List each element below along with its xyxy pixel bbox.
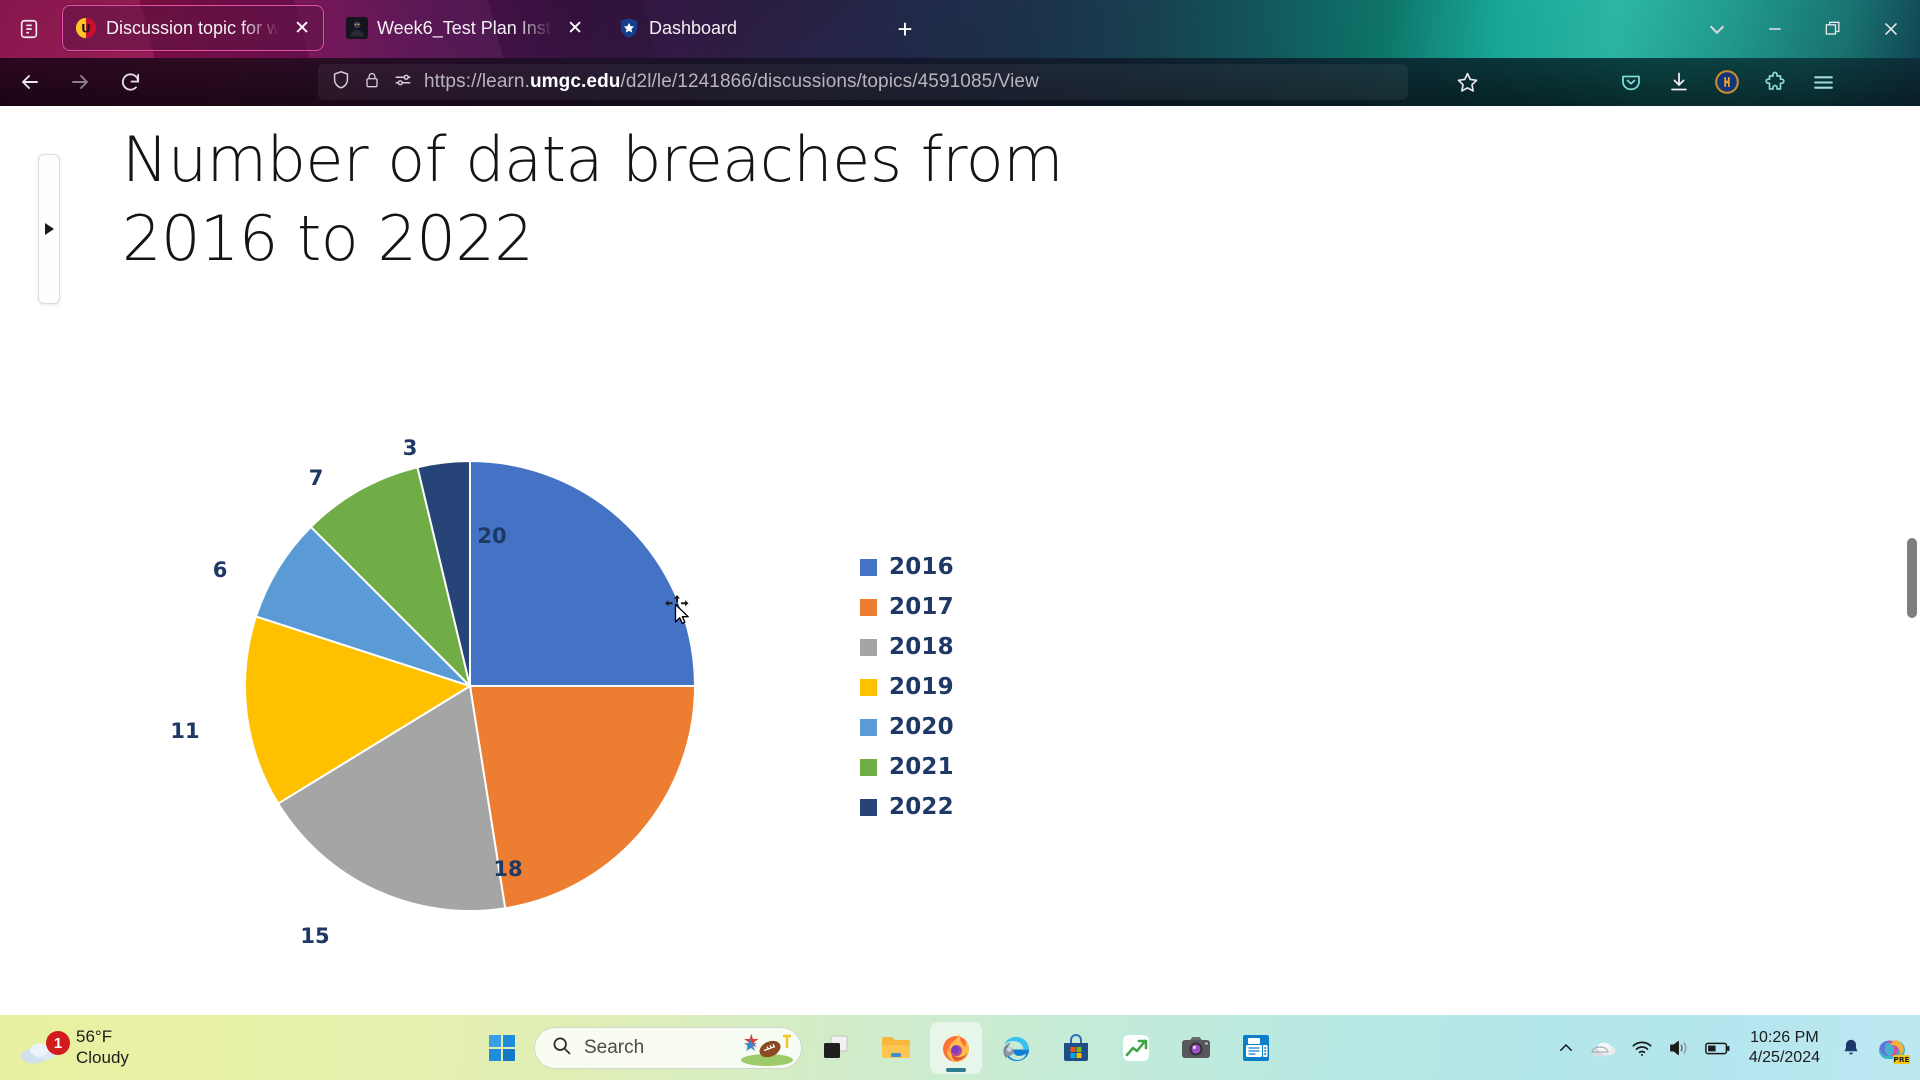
avatar-favicon [346, 17, 368, 39]
clock-date: 4/25/2024 [1749, 1048, 1820, 1068]
taskbar-clock[interactable]: 10:26 PM 4/25/2024 [1739, 1028, 1830, 1068]
chart-up-icon[interactable] [1110, 1022, 1162, 1074]
tab-strip: U Discussion topic for week 7: Dat ✕ Wee… [0, 0, 1920, 58]
site-permissions-icon[interactable] [392, 69, 414, 96]
store-icon[interactable] [1050, 1022, 1102, 1074]
url-text[interactable]: https://learn.umgc.edu/d2l/le/1241866/di… [424, 71, 1039, 93]
legend-item-2021[interactable]: 2021 [860, 756, 954, 778]
windows-taskbar: 1 56°F Cloudy Search [0, 1015, 1920, 1080]
slice-label-2020: 6 [213, 558, 228, 582]
bell-icon[interactable] [1834, 1031, 1868, 1065]
browser-tab-dashboard[interactable]: Dashboard [606, 5, 868, 51]
firefox-icon[interactable] [930, 1022, 982, 1074]
tracking-protection-shield-icon[interactable] [330, 69, 352, 96]
pie-slices [190, 406, 750, 966]
window-controls [1688, 0, 1920, 58]
maximize-restore-button[interactable] [1804, 0, 1862, 58]
vertical-scrollbar[interactable] [1904, 106, 1920, 1015]
slice-label-2018: 15 [300, 924, 329, 948]
battery-icon[interactable] [1701, 1031, 1735, 1065]
list-all-tabs-button[interactable] [1688, 0, 1746, 58]
legend-label: 2020 [889, 714, 954, 740]
umgc-favicon: U [75, 17, 97, 39]
weather-condition: Cloudy [76, 1048, 129, 1069]
minimize-button[interactable] [1746, 0, 1804, 58]
slice-label-2017: 18 [493, 857, 522, 881]
legend-swatch-2019 [860, 679, 877, 696]
page-title: Number of data breaches from 2016 to 202… [122, 120, 1222, 279]
search-placeholder: Search [584, 1037, 644, 1059]
tab-title: Week6_Test Plan Instructions: Th [377, 18, 553, 39]
weather-temperature: 56°F [76, 1027, 129, 1048]
printer-scan-icon[interactable] [1230, 1022, 1282, 1074]
new-tab-button[interactable]: + [888, 12, 922, 46]
close-window-button[interactable] [1862, 0, 1920, 58]
speaker-icon[interactable] [1663, 1031, 1697, 1065]
scrollbar-thumb[interactable] [1907, 538, 1917, 618]
pie-chart: 20 18 15 11 6 7 3 2016 2017 2 [150, 376, 1150, 956]
search-icon [551, 1035, 572, 1061]
legend-item-2018[interactable]: 2018 [860, 636, 954, 658]
url-address-bar[interactable]: https://learn.umgc.edu/d2l/le/1241866/di… [318, 64, 1408, 100]
chevron-up-icon[interactable] [1549, 1031, 1583, 1065]
star-icon[interactable] [1448, 64, 1486, 100]
legend-label: 2018 [889, 634, 954, 660]
svg-text:U: U [81, 22, 91, 36]
navigation-toolbar: https://learn.umgc.edu/d2l/le/1241866/di… [0, 58, 1920, 106]
legend-item-2017[interactable]: 2017 [860, 596, 954, 618]
legend-swatch-2020 [860, 719, 877, 736]
tab-close-icon[interactable]: ✕ [289, 17, 315, 40]
copilot-badge-text: PRE [1893, 1055, 1909, 1064]
legend-label: 2019 [889, 674, 954, 700]
back-arrow-icon[interactable] [12, 64, 48, 100]
move-cursor [664, 594, 698, 628]
slice-label-2016: 20 [477, 524, 506, 548]
copilot-icon[interactable]: PRE [1872, 1031, 1912, 1065]
notification-badge: 1 [46, 1031, 70, 1055]
page-content: Number of data breaches from 2016 to 202… [0, 106, 1920, 1015]
legend-item-2020[interactable]: 2020 [860, 716, 954, 738]
pie-slice-2016[interactable] [470, 461, 695, 686]
legend-label: 2016 [889, 554, 954, 580]
legend-swatch-2022 [860, 799, 877, 816]
pocket-icon[interactable] [1612, 64, 1650, 100]
account-avatar-icon[interactable] [1708, 64, 1746, 100]
expand-sidebar-handle[interactable] [38, 154, 60, 304]
system-tray: 10:26 PM 4/25/2024 PRE [1549, 1015, 1912, 1080]
legend-item-2016[interactable]: 2016 [860, 556, 954, 578]
pie-chart-graphic: 20 18 15 11 6 7 3 [190, 406, 750, 966]
legend-swatch-2016 [860, 559, 877, 576]
onedrive-cloud-icon[interactable] [1587, 1031, 1621, 1065]
legend-label: 2021 [889, 754, 954, 780]
legend-swatch-2021 [860, 759, 877, 776]
browser-tab-discussion-topic[interactable]: U Discussion topic for week 7: Dat ✕ [62, 5, 324, 51]
edge-icon[interactable] [990, 1022, 1042, 1074]
sports-widget-icon[interactable] [737, 1032, 795, 1066]
download-icon[interactable] [1660, 64, 1698, 100]
weather-widget[interactable]: 1 56°F Cloudy [18, 1023, 238, 1073]
weather-text: 56°F Cloudy [76, 1027, 129, 1068]
task-view-icon[interactable] [810, 1022, 862, 1074]
folder-icon[interactable] [870, 1022, 922, 1074]
wifi-icon[interactable] [1625, 1031, 1659, 1065]
shield-star-favicon [618, 17, 640, 39]
hamburger-menu-icon[interactable] [1804, 64, 1842, 100]
tab-close-icon[interactable] [746, 26, 756, 30]
legend-label: 2022 [889, 794, 954, 820]
search-input[interactable]: Search [534, 1027, 802, 1069]
slice-label-2019: 11 [170, 719, 199, 743]
extensions-puzzle-icon[interactable] [1756, 64, 1794, 100]
slice-label-2021: 7 [309, 466, 324, 490]
firefox-browser-window: U Discussion topic for week 7: Dat ✕ Wee… [0, 0, 1920, 1015]
reload-icon[interactable] [112, 64, 148, 100]
padlock-icon[interactable] [362, 70, 382, 95]
firefox-view-button[interactable] [8, 8, 50, 50]
chart-legend: 2016 2017 2018 2019 2020 [860, 556, 954, 818]
legend-item-2019[interactable]: 2019 [860, 676, 954, 698]
camera-icon[interactable] [1170, 1022, 1222, 1074]
taskbar-center-group: Search [478, 1015, 1282, 1080]
clock-time: 10:26 PM [1750, 1028, 1818, 1048]
slice-label-2022: 3 [403, 436, 418, 460]
tab-title: Discussion topic for week 7: Dat [106, 18, 280, 39]
browser-tab-week6-test-plan[interactable]: Week6_Test Plan Instructions: Th ✕ [334, 5, 596, 51]
forward-arrow-icon[interactable] [62, 64, 98, 100]
tab-title: Dashboard [649, 18, 737, 39]
legend-swatch-2017 [860, 599, 877, 616]
legend-item-2022[interactable]: 2022 [860, 796, 954, 818]
legend-label: 2017 [889, 594, 954, 620]
chevron-right-icon [45, 223, 54, 235]
tab-close-icon[interactable]: ✕ [562, 17, 588, 40]
windows-start-icon[interactable] [478, 1024, 526, 1072]
legend-swatch-2018 [860, 639, 877, 656]
